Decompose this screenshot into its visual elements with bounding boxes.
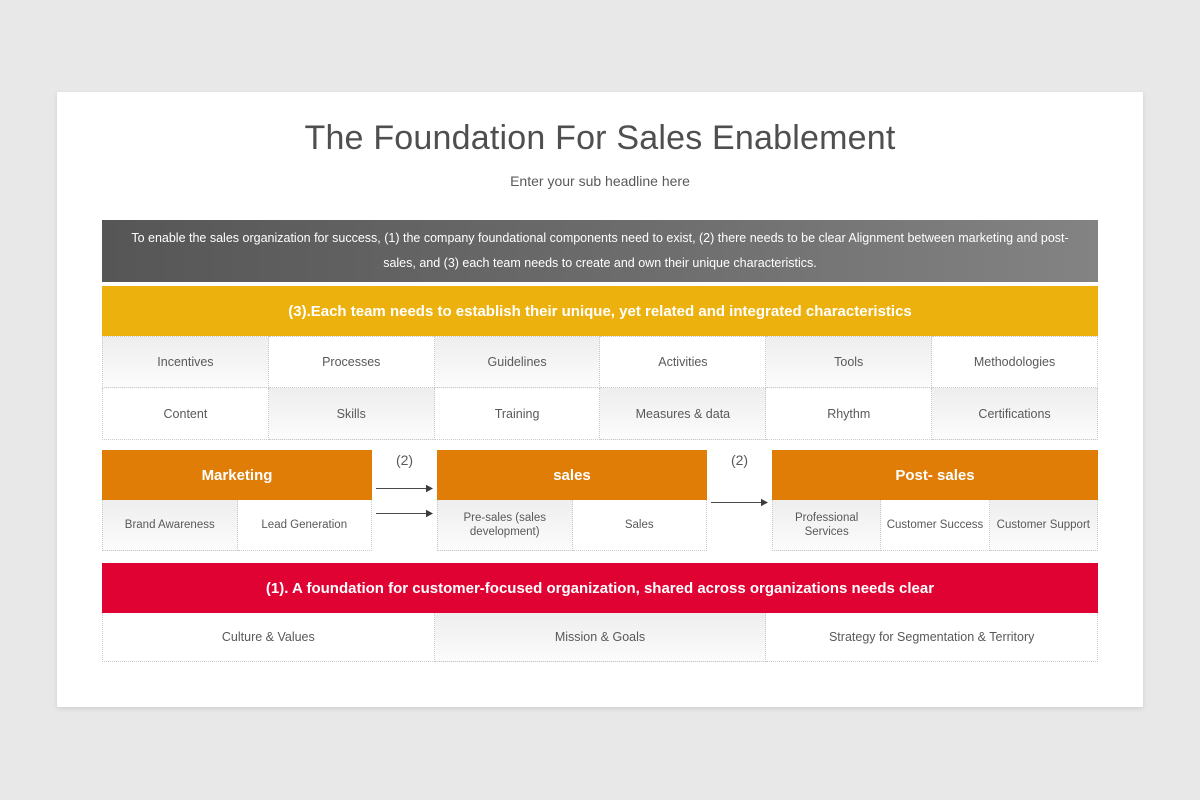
arrow-right-icon [711,494,768,503]
team-group-marketing: Marketing Brand Awareness Lead Generatio… [102,450,372,551]
foundation-row: Culture & Values Mission & Goals Strateg… [102,613,1098,662]
characteristic-cell[interactable]: Skills [269,388,435,440]
foundation-heading: (1). A foundation for customer-focused o… [102,563,1098,613]
characteristic-cell[interactable]: Tools [766,336,932,388]
arrow-right-icon [376,480,433,489]
table-row: Incentives Processes Guidelines Activiti… [102,336,1098,388]
arrow-right-icon [376,505,433,514]
characteristic-cell[interactable]: Training [435,388,601,440]
team-sub-cell[interactable]: Customer Support [990,500,1098,551]
team-header-marketing[interactable]: Marketing [102,450,372,500]
team-sub-cell[interactable]: Customer Success [881,500,989,551]
team-sub-cell[interactable]: Professional Services [772,500,881,551]
team-header-post-sales[interactable]: Post- sales [772,450,1098,500]
foundation-cell[interactable]: Mission & Goals [435,613,767,662]
slide-card: The Foundation For Sales Enablement Ente… [57,92,1143,707]
connector-label: (2) [372,452,437,468]
team-group-post-sales: Post- sales Professional Services Custom… [772,450,1098,551]
characteristic-cell[interactable]: Measures & data [600,388,766,440]
team-sub-cell[interactable]: Brand Awareness [102,500,238,551]
characteristic-cell[interactable]: Incentives [102,336,269,388]
characteristics-grid: Incentives Processes Guidelines Activiti… [102,336,1098,440]
connector-marketing-to-sales: (2) [372,450,437,551]
summary-banner: To enable the sales organization for suc… [102,220,1098,282]
page-subtitle: Enter your sub headline here [57,173,1143,189]
team-group-sales: sales Pre-sales (sales development) Sale… [437,450,707,551]
connector-sales-to-post-sales: (2) [707,450,772,551]
characteristic-cell[interactable]: Processes [269,336,435,388]
characteristic-cell[interactable]: Certifications [932,388,1098,440]
foundation-cell[interactable]: Culture & Values [102,613,435,662]
page-title: The Foundation For Sales Enablement [57,119,1143,158]
teams-row: Marketing Brand Awareness Lead Generatio… [102,450,1098,551]
characteristics-heading: (3).Each team needs to establish their u… [102,286,1098,336]
team-sub-cell[interactable]: Sales [573,500,708,551]
characteristic-cell[interactable]: Content [102,388,269,440]
characteristic-cell[interactable]: Guidelines [435,336,601,388]
characteristic-cell[interactable]: Methodologies [932,336,1098,388]
team-subs-sales: Pre-sales (sales development) Sales [437,500,707,551]
foundation-cell[interactable]: Strategy for Segmentation & Territory [766,613,1098,662]
team-subs-marketing: Brand Awareness Lead Generation [102,500,372,551]
team-sub-cell[interactable]: Pre-sales (sales development) [437,500,573,551]
team-sub-cell[interactable]: Lead Generation [238,500,373,551]
connector-label: (2) [707,452,772,468]
team-header-sales[interactable]: sales [437,450,707,500]
characteristic-cell[interactable]: Activities [600,336,766,388]
table-row: Content Skills Training Measures & data … [102,388,1098,440]
team-subs-post-sales: Professional Services Customer Success C… [772,500,1098,551]
characteristic-cell[interactable]: Rhythm [766,388,932,440]
